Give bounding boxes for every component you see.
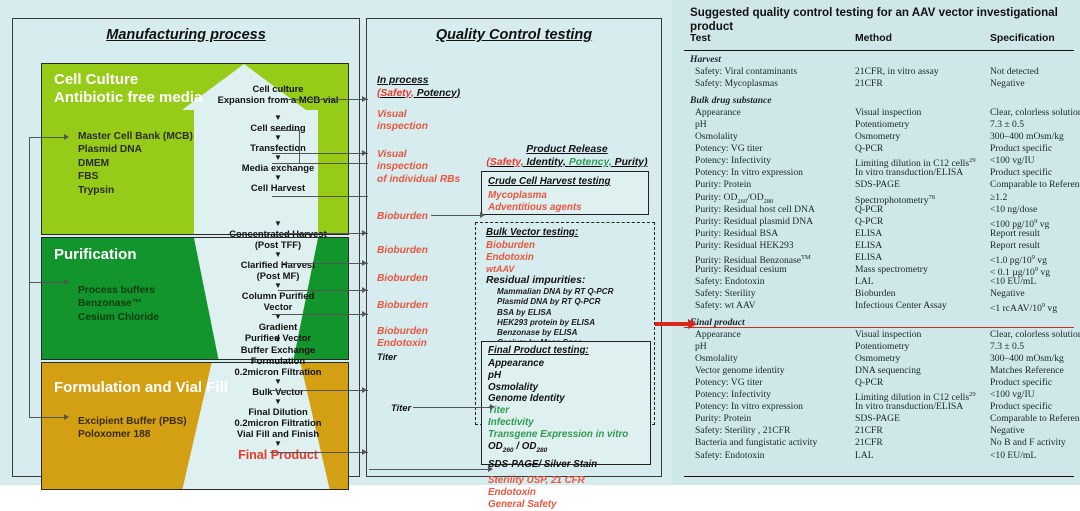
qc-testing-table-panel: Suggested quality control testing for an…	[672, 0, 1080, 485]
table-row: Safety: wt AAVInfectious Center Assay<1 …	[690, 300, 1074, 312]
cell-test: Osmolality	[690, 353, 865, 365]
cell-test: Osmolality	[690, 131, 865, 143]
table-body: HarvestSafety: Viral contaminants21CFR, …	[690, 54, 1074, 462]
cell-specification: Matches Reference	[990, 365, 1080, 377]
qc-bioburden-4: Bioburden	[377, 300, 428, 312]
table-row: Purity: Residual HEK293ELISAReport resul…	[690, 240, 1074, 252]
table-row: Purity: Residual plasmid DNAQ-PCR<100 pg…	[690, 216, 1074, 228]
manufacturing-process-title: Manufacturing process	[13, 27, 359, 43]
table-row: Potency: VG titerQ-PCRProduct specific	[690, 377, 1074, 389]
table-row: Potency: InfectivityLimiting dilution in…	[690, 155, 1074, 167]
table-row: Purity: OD260/OD280Spectrophotometry78≥1…	[690, 192, 1074, 204]
arrow-down-icon: ▼	[198, 113, 358, 122]
qc-titer-label: Titer	[391, 402, 411, 413]
table-row: Potency: In vitro expressionIn vitro tra…	[690, 167, 1074, 179]
table-group-header: Bulk drug substance	[690, 95, 1074, 107]
cell-test: pH	[690, 119, 865, 131]
cell-specification: Clear, colorless solution	[990, 329, 1080, 341]
quality-control-title: Quality Control testing	[367, 27, 661, 43]
cell-specification: Negative	[990, 425, 1080, 437]
table-row: pHPotentiometry7.3 ± 0.5	[690, 119, 1074, 131]
table-row: Bacteria and fungistatic activity21CFRNo…	[690, 437, 1074, 449]
cell-specification: 300–400 mOsm/kg	[990, 131, 1080, 143]
cell-specification: Comparable to Reference	[990, 179, 1080, 191]
cell-test: Safety: Sterility , 21CFR	[690, 425, 865, 437]
cell-specification: Report result	[990, 240, 1080, 252]
table-row: Purity: Residual BenzonaseTMELISA<1.0 pg…	[690, 252, 1074, 264]
qc-bioburden-endotoxin-titer: Bioburden Endotoxin Titer	[377, 326, 428, 364]
cell-test: Potency: Infectivity	[690, 389, 865, 401]
cell-specification: 7.3 ± 0.5	[990, 119, 1080, 131]
cell-test: Potency: VG titer	[690, 377, 865, 389]
product-release-header: Product Release (Safety, Identity, Poten…	[467, 143, 667, 169]
cell-specification: Clear, colorless solution	[990, 107, 1080, 119]
cell-test: Safety: wt AAV	[690, 300, 865, 312]
cell-test: Purity: Protein	[690, 413, 865, 425]
table-row: Safety: SterilityBioburdenNegative	[690, 288, 1074, 300]
table-row: AppearanceVisual inspectionClear, colorl…	[690, 329, 1074, 341]
table-row: Safety: Viral contaminants21CFR, in vitr…	[690, 66, 1074, 78]
attr-safety: (Safety,	[486, 157, 523, 168]
arrow-down-icon: ▼	[198, 335, 358, 344]
attr-purity: Purity)	[615, 157, 648, 168]
cell-specification: <100 vg/IU	[990, 389, 1080, 401]
table-row: Potency: In vitro expressionIn vitro tra…	[690, 401, 1074, 413]
attr-identity: Identity,	[526, 157, 565, 168]
arrow-down-icon: ▼	[198, 219, 358, 228]
stage-title-purification: Purification	[54, 246, 137, 264]
qc-bioburden-1: Bioburden	[377, 211, 428, 223]
cell-specification: Comparable to Reference	[990, 413, 1080, 425]
table-row: AppearanceVisual inspectionClear, colorl…	[690, 107, 1074, 119]
cell-specification: ≥1.2	[990, 192, 1080, 204]
cell-test: Purity: Residual HEK293	[690, 240, 865, 252]
cell-specification: 300–400 mOsm/kg	[990, 353, 1080, 365]
column-header-test: Test	[690, 33, 865, 44]
table-row: Safety: Sterility , 21CFR21CFRNegative	[690, 425, 1074, 437]
cell-test: Purity: Protein	[690, 179, 865, 191]
table-row: Purity: Residual cesiumMass spectrometry…	[690, 264, 1074, 276]
cell-test: Purity: Residual cesium	[690, 264, 865, 276]
cell-specification: <10 ng/dose	[990, 204, 1080, 216]
qc-bioburden-3: Bioburden	[377, 273, 428, 285]
table-row: Vector genome identityDNA sequencingMatc…	[690, 365, 1074, 377]
table-row: Purity: ProteinSDS-PAGEComparable to Ref…	[690, 179, 1074, 191]
cell-test: Potency: VG titer	[690, 143, 865, 155]
cell-specification: Product specific	[990, 143, 1080, 155]
column-header-specification: Specification	[990, 33, 1080, 44]
table-row: OsmolalityOsmometry300–400 mOsm/kg	[690, 131, 1074, 143]
arrow-down-icon: ▼	[198, 173, 358, 182]
steps-cell-culture-top: Cell culture Expansion from a MCB vial	[198, 83, 358, 105]
cell-test: Bacteria and fungistatic activity	[690, 437, 865, 449]
cell-test: Purity: Residual plasmid DNA	[690, 216, 865, 228]
cell-specification: Not detected	[990, 66, 1080, 78]
cell-test: Potency: In vitro expression	[690, 167, 865, 179]
quality-control-panel: Quality Control testing In process (Safe…	[366, 18, 662, 477]
cell-specification: Product specific	[990, 377, 1080, 389]
table-group-header: Harvest	[690, 54, 1074, 66]
cell-test: Appearance	[690, 329, 865, 341]
table-row: OsmolalityOsmometry300–400 mOsm/kg	[690, 353, 1074, 365]
cell-test: Safety: Mycoplasmas	[690, 78, 865, 90]
arrow-down-icon: ▼	[198, 250, 358, 259]
table-row: Potency: InfectivityLimiting dilution in…	[690, 389, 1074, 401]
cell-test: Safety: Endotoxin	[690, 276, 865, 288]
arrow-down-icon: ▼	[198, 397, 358, 406]
table-rule-bottom	[684, 476, 1074, 477]
qc-bioburden-2: Bioburden	[377, 245, 428, 257]
steps-purification-chain: ▼ Concentrated Harvest (Post TFF) ▼ Clar…	[198, 219, 358, 343]
qc-visual-inspection: Visual inspection	[377, 109, 428, 134]
table-group-header: Final product	[690, 317, 1074, 329]
table-row: Purity: Residual host cell DNAQ-PCR<10 n…	[690, 204, 1074, 216]
table-row: Potency: VG titerQ-PCRProduct specific	[690, 143, 1074, 155]
cell-test: pH	[690, 341, 865, 353]
cell-test: Safety: Sterility	[690, 288, 865, 300]
stage-title-cell-culture: Cell Culture Antibiotic free media	[54, 71, 202, 106]
cell-specification: Report result	[990, 228, 1080, 240]
cell-test: Safety: Endotoxin	[690, 450, 865, 462]
crude-cell-harvest-box: Crude Cell Harvest testing Mycoplasma Ad…	[481, 171, 649, 215]
manufacturing-qc-flowchart: Certified Raw Materials, Components and …	[0, 0, 672, 485]
final-product-testing-box: Final Product testing: Appearance pH Osm…	[481, 341, 651, 465]
table-row: Safety: EndotoxinLAL<10 EU/mL	[690, 450, 1074, 462]
cell-specification: <10 EU/mL	[990, 276, 1080, 288]
cell-specification: 7.3 ± 0.5	[990, 341, 1080, 353]
cell-test: Appearance	[690, 107, 865, 119]
steps-formulation-chain: ▼ Buffer Exchange Formulation 0.2micron …	[198, 335, 358, 463]
table-row: pHPotentiometry7.3 ± 0.5	[690, 341, 1074, 353]
cell-specification: No B and F activity	[990, 437, 1080, 449]
cell-specification: <1 rcAAV/109 vg	[990, 300, 1080, 315]
cell-specification: Product specific	[990, 401, 1080, 413]
in-process-header: In process (Safety, Potency)	[377, 75, 460, 100]
arrow-down-icon: ▼	[198, 153, 358, 162]
cell-test: Potency: In vitro expression	[690, 401, 865, 413]
table-row: Safety: EndotoxinLAL<10 EU/mL	[690, 276, 1074, 288]
table-row: Safety: Mycoplasmas21CFRNegative	[690, 78, 1074, 90]
arrow-down-icon: ▼	[198, 281, 358, 290]
cell-specification: Negative	[990, 288, 1080, 300]
cell-test: Safety: Viral contaminants	[690, 66, 865, 78]
cell-specification: Negative	[990, 78, 1080, 90]
cell-specification: Product specific	[990, 167, 1080, 179]
cell-test: Potency: Infectivity	[690, 155, 865, 167]
attr-safety: (Safety,	[377, 88, 414, 99]
qc-visual-inspection-rbs: Visual inspection of individual RBs	[377, 149, 460, 186]
table-rule-top	[684, 50, 1074, 51]
cell-test: Purity: Residual BSA	[690, 228, 865, 240]
attr-potency: Potency)	[417, 88, 461, 99]
table-caption: Suggested quality control testing for an…	[690, 6, 1070, 34]
table-row: Purity: Residual BSAELISAReport result	[690, 228, 1074, 240]
od-ratio-label: OD260 / OD280	[488, 441, 650, 457]
materials-cell-culture: Master Cell Bank (MCB) Plasmid DNA DMEM …	[78, 130, 193, 197]
materials-formulation: Excipient Buffer (PBS) Poloxomer 188	[78, 415, 187, 442]
arrow-down-icon: ▼	[198, 377, 358, 386]
materials-purification: Process buffers Benzonase™ Cesium Chlori…	[78, 284, 159, 324]
table-row: Purity: ProteinSDS-PAGEComparable to Ref…	[690, 413, 1074, 425]
cell-specification: <100 vg/IU	[990, 155, 1080, 167]
cell-specification: <10 EU/mL	[990, 450, 1080, 462]
arrow-down-icon: ▼	[198, 133, 358, 142]
cell-test: Vector genome identity	[690, 365, 865, 377]
attr-potency: Potency,	[569, 157, 612, 168]
cell-test: Purity: Residual host cell DNA	[690, 204, 865, 216]
arrow-down-icon: ▼	[198, 439, 358, 448]
